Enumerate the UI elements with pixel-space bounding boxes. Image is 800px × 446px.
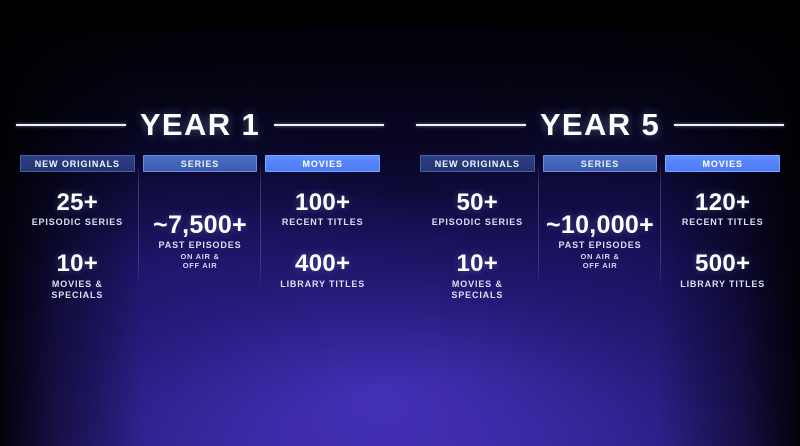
stat-label: RECENT TITLES — [265, 217, 380, 228]
badge-movies[interactable]: MOVIES — [265, 155, 380, 172]
stat-label: EPISODIC SERIES — [420, 217, 535, 228]
column-new-originals: NEW ORIGINALS 25+ EPISODIC SERIES 10+ MO… — [16, 155, 139, 301]
column-series: SERIES ~7,500+ PAST EPISODES ON AIR & OF… — [139, 155, 262, 301]
year-1-columns: NEW ORIGINALS 25+ EPISODIC SERIES 10+ MO… — [0, 155, 400, 301]
slide-content: YEAR 1 NEW ORIGINALS 25+ EPISODIC SERIES… — [0, 0, 800, 446]
header-rule-right — [274, 124, 384, 126]
stat-label: LIBRARY TITLES — [665, 279, 780, 290]
stat-item: ~7,500+ PAST EPISODES ON AIR & OFF AIR — [143, 172, 258, 270]
stat-item: 50+ EPISODIC SERIES — [420, 172, 535, 228]
stat-item: 500+ LIBRARY TITLES — [665, 228, 780, 289]
stat-sublabel: ON AIR & OFF AIR — [543, 252, 658, 271]
year-section-5: YEAR 5 NEW ORIGINALS 50+ EPISODIC SERIES… — [400, 0, 800, 446]
column-movies: MOVIES 100+ RECENT TITLES 400+ LIBRARY T… — [261, 155, 384, 301]
stat-item: ~10,000+ PAST EPISODES ON AIR & OFF AIR — [543, 172, 658, 270]
slide-canvas: YEAR 1 NEW ORIGINALS 25+ EPISODIC SERIES… — [0, 0, 800, 446]
year-1-header: YEAR 1 — [0, 108, 400, 142]
year-5-header: YEAR 5 — [400, 108, 800, 142]
stat-item: 25+ EPISODIC SERIES — [20, 172, 135, 228]
stat-label: RECENT TITLES — [665, 217, 780, 228]
header-rule-right — [674, 124, 784, 126]
stat-value: ~7,500+ — [143, 212, 258, 238]
stat-item: 10+ MOVIES & SPECIALS — [20, 228, 135, 301]
year-5-title: YEAR 5 — [526, 107, 674, 143]
badge-series[interactable]: SERIES — [143, 155, 258, 172]
stat-label: MOVIES & SPECIALS — [20, 279, 135, 302]
stat-label: PAST EPISODES — [543, 240, 658, 251]
stat-label: LIBRARY TITLES — [265, 279, 380, 290]
stat-group: 25+ EPISODIC SERIES 10+ MOVIES & SPECIAL… — [20, 172, 135, 301]
stat-value: 50+ — [420, 190, 535, 215]
stat-group: 50+ EPISODIC SERIES 10+ MOVIES & SPECIAL… — [420, 172, 535, 301]
year-section-1: YEAR 1 NEW ORIGINALS 25+ EPISODIC SERIES… — [0, 0, 400, 446]
stat-item: 400+ LIBRARY TITLES — [265, 228, 380, 289]
column-series: SERIES ~10,000+ PAST EPISODES ON AIR & O… — [539, 155, 662, 301]
badge-new-originals[interactable]: NEW ORIGINALS — [420, 155, 535, 172]
stat-value: ~10,000+ — [543, 212, 658, 238]
header-rule-left — [416, 124, 526, 126]
stat-value: 120+ — [665, 190, 780, 215]
stat-group: ~10,000+ PAST EPISODES ON AIR & OFF AIR — [543, 172, 658, 270]
stat-label: EPISODIC SERIES — [20, 217, 135, 228]
stat-label: MOVIES & SPECIALS — [420, 279, 535, 302]
stat-item: 100+ RECENT TITLES — [265, 172, 380, 228]
header-rule-left — [16, 124, 126, 126]
year-1-title: YEAR 1 — [126, 107, 274, 143]
badge-new-originals[interactable]: NEW ORIGINALS — [20, 155, 135, 172]
column-movies: MOVIES 120+ RECENT TITLES 500+ LIBRARY T… — [661, 155, 784, 301]
stat-value: 10+ — [420, 251, 535, 276]
stat-item: 120+ RECENT TITLES — [665, 172, 780, 228]
stat-group: 120+ RECENT TITLES 500+ LIBRARY TITLES — [665, 172, 780, 290]
badge-movies[interactable]: MOVIES — [665, 155, 780, 172]
stat-group: 100+ RECENT TITLES 400+ LIBRARY TITLES — [265, 172, 380, 290]
badge-series[interactable]: SERIES — [543, 155, 658, 172]
stat-value: 400+ — [265, 251, 380, 276]
stat-value: 100+ — [265, 190, 380, 215]
stat-value: 25+ — [20, 190, 135, 215]
stat-item: 10+ MOVIES & SPECIALS — [420, 228, 535, 301]
stat-value: 10+ — [20, 251, 135, 276]
stat-value: 500+ — [665, 251, 780, 276]
stat-group: ~7,500+ PAST EPISODES ON AIR & OFF AIR — [143, 172, 258, 270]
stat-sublabel: ON AIR & OFF AIR — [143, 252, 258, 271]
column-new-originals: NEW ORIGINALS 50+ EPISODIC SERIES 10+ MO… — [416, 155, 539, 301]
stat-label: PAST EPISODES — [143, 240, 258, 251]
year-5-columns: NEW ORIGINALS 50+ EPISODIC SERIES 10+ MO… — [400, 155, 800, 301]
